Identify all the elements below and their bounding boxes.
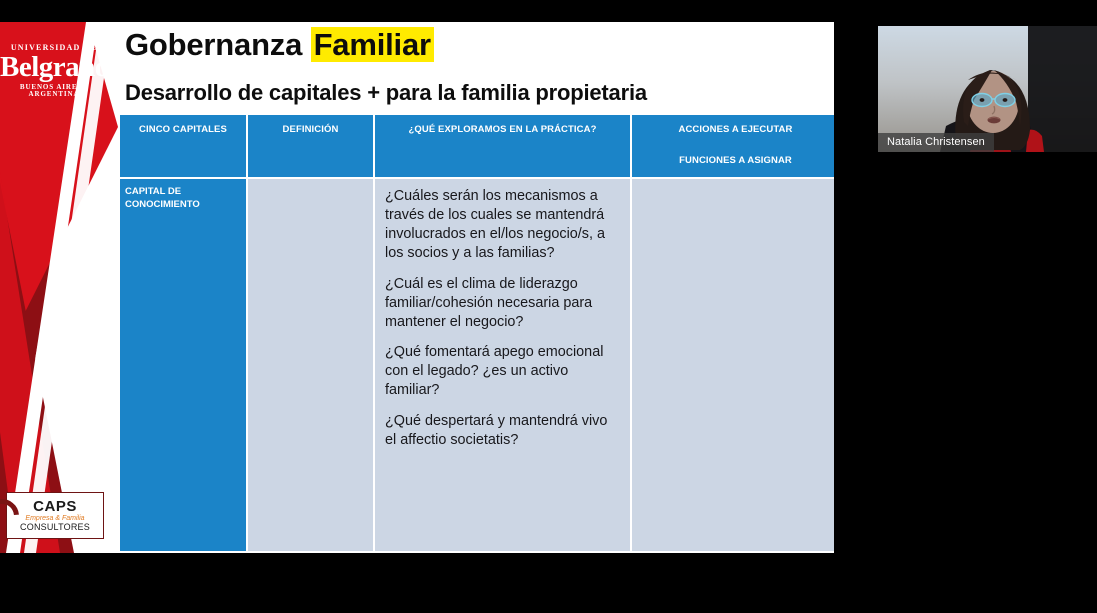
caps-logo-title: CAPS — [33, 499, 77, 514]
column-header-practica: ¿QUÉ EXPLORAMOS EN LA PRÁCTICA? — [375, 115, 630, 177]
slide-title: Gobernanza Familiar — [125, 27, 434, 63]
practica-question-1: ¿Cuáles serán los mecanismos a través de… — [385, 187, 620, 264]
slide-title-plain: Gobernanza — [125, 27, 311, 62]
table-header-row: CINCO CAPITALES DEFINICIÓN ¿QUÉ EXPLORAM… — [120, 115, 834, 177]
caps-logo-footer: CONSULTORES — [20, 523, 90, 532]
capitals-table: CINCO CAPITALES DEFINICIÓN ¿QUÉ EXPLORAM… — [118, 113, 834, 553]
slide-subtitle: Desarrollo de capitales + para la famili… — [125, 80, 647, 106]
participant-video-tile[interactable]: Natalia Christensen — [878, 26, 1097, 152]
practica-question-4: ¿Qué despertará y mantendrá vivo el affe… — [385, 412, 620, 450]
caps-logo-subtitle: Empresa & Familia — [25, 515, 84, 522]
university-logo-main: Belgrano — [0, 52, 108, 82]
cell-acciones — [632, 179, 834, 551]
participant-name-label: Natalia Christensen — [878, 133, 994, 152]
column-header-acciones: ACCIONES A EJECUTAR FUNCIONES A ASIGNAR — [632, 115, 834, 177]
cell-practica: ¿Cuáles serán los mecanismos a través de… — [375, 179, 630, 551]
row-label-capital-de-conocimiento: CAPITAL DE CONOCIMIENTO — [120, 179, 246, 551]
cell-definicion — [248, 179, 373, 551]
caps-swirl-icon — [0, 492, 26, 540]
column-header-definicion: DEFINICIÓN — [248, 115, 373, 177]
practica-question-2: ¿Cuál es el clima de liderazgo familiar/… — [385, 275, 620, 332]
slide-title-highlight: Familiar — [311, 27, 434, 62]
column-header-cinco-capitales: CINCO CAPITALES — [120, 115, 246, 177]
column-header-acciones-line1: ACCIONES A EJECUTAR — [679, 124, 793, 135]
practica-question-3: ¿Qué fomentará apego emocional con el le… — [385, 343, 620, 400]
university-logo-bottom: BUENOS AIRES - ARGENTINA — [0, 84, 108, 98]
table-row: CAPITAL DE CONOCIMIENTO ¿Cuáles serán lo… — [120, 179, 834, 551]
meeting-screen: UNIVERSIDAD DE Belgrano BUENOS AIRES - A… — [0, 0, 1097, 613]
column-header-acciones-line2: FUNCIONES A ASIGNAR — [636, 155, 834, 166]
university-logo: UNIVERSIDAD DE Belgrano BUENOS AIRES - A… — [0, 44, 108, 102]
caps-logo: CAPS Empresa & Familia CONSULTORES — [6, 492, 104, 539]
shared-slide: UNIVERSIDAD DE Belgrano BUENOS AIRES - A… — [0, 22, 834, 553]
